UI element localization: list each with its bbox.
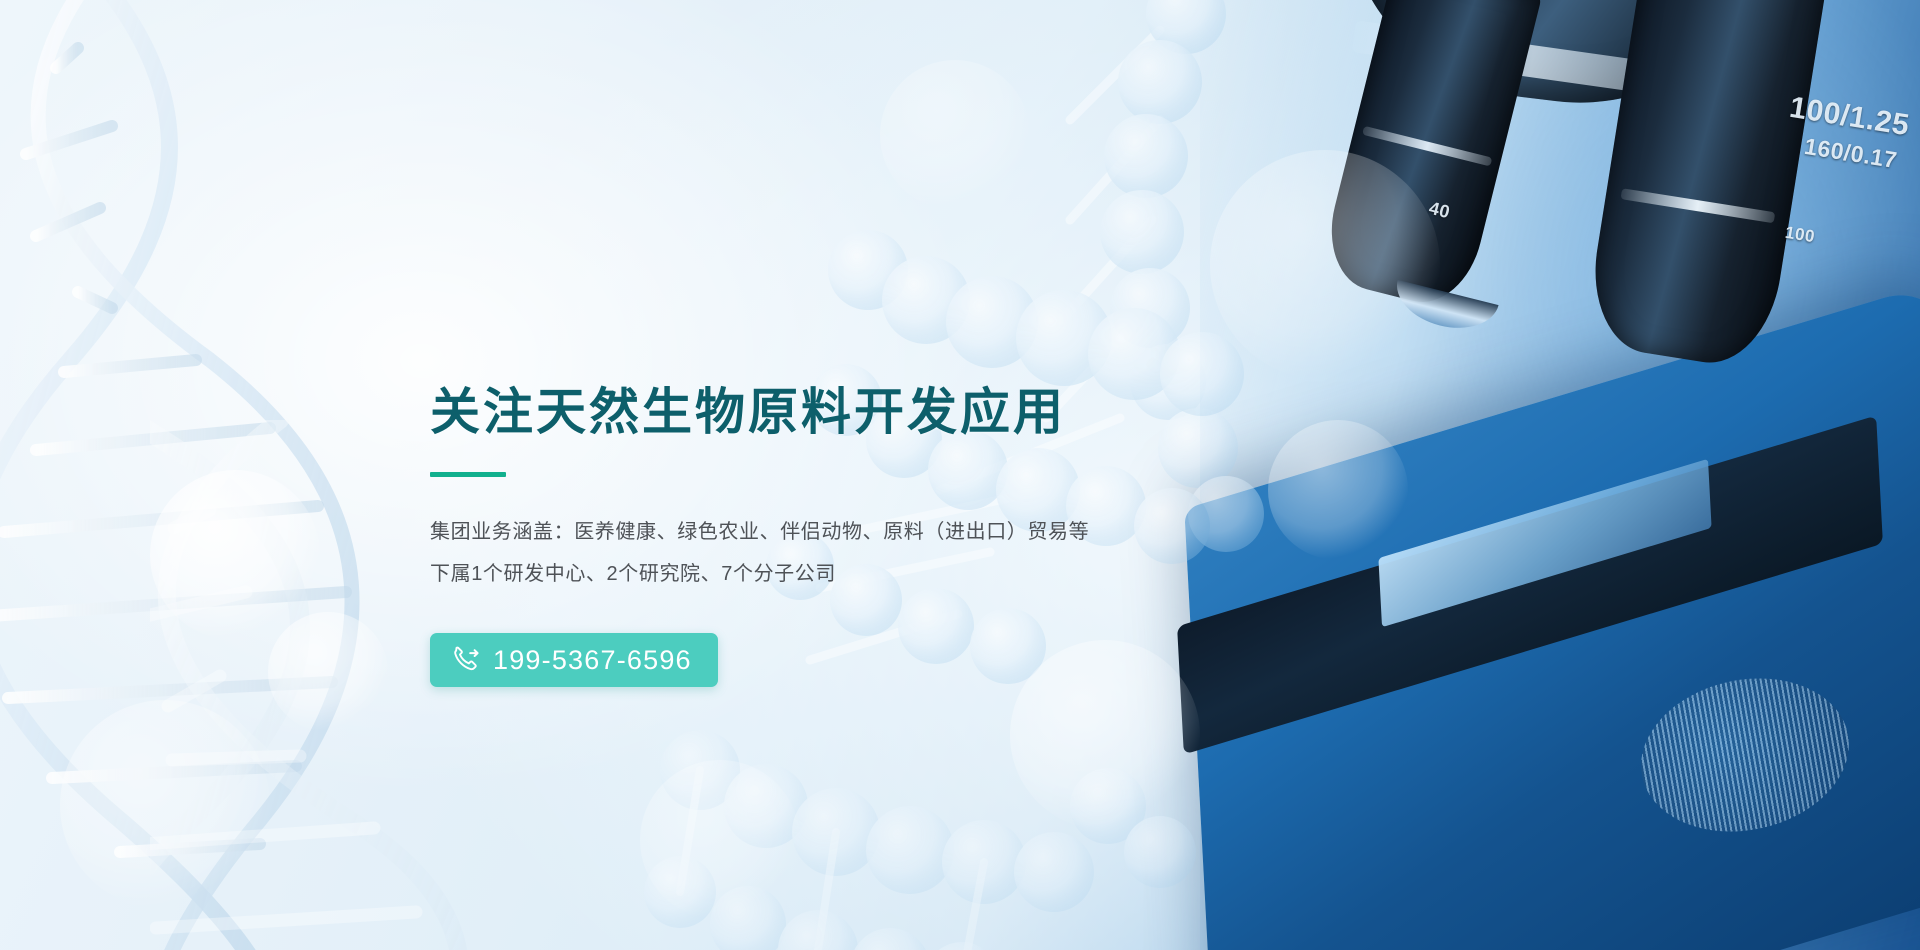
hero-description: 集团业务涵盖：医养健康、绿色农业、伴侣动物、原料（进出口）贸易等 下属1个研发中… [430,511,1250,595]
dna-double-helix-icon [0,0,480,950]
phone-forward-icon [452,646,480,674]
bokeh-light [268,612,388,732]
hero-banner: 100/1.25 160/0.17 40 100 [0,0,1920,950]
hero-description-line-2: 下属1个研发中心、2个研究院、7个分子公司 [430,553,1250,595]
headline-divider [430,472,506,477]
hero-headline: 关注天然生物原料开发应用 [430,386,1250,439]
phone-number-label: 199-5367-6596 [493,647,692,674]
bokeh-light [150,470,320,640]
hero-description-line-1: 集团业务涵盖：医养健康、绿色农业、伴侣动物、原料（进出口）贸易等 [430,511,1250,553]
hero-content: 关注天然生物原料开发应用 集团业务涵盖：医养健康、绿色农业、伴侣动物、原料（进出… [430,386,1250,687]
bokeh-light [60,700,270,910]
phone-cta-button[interactable]: 199-5367-6596 [430,633,718,687]
